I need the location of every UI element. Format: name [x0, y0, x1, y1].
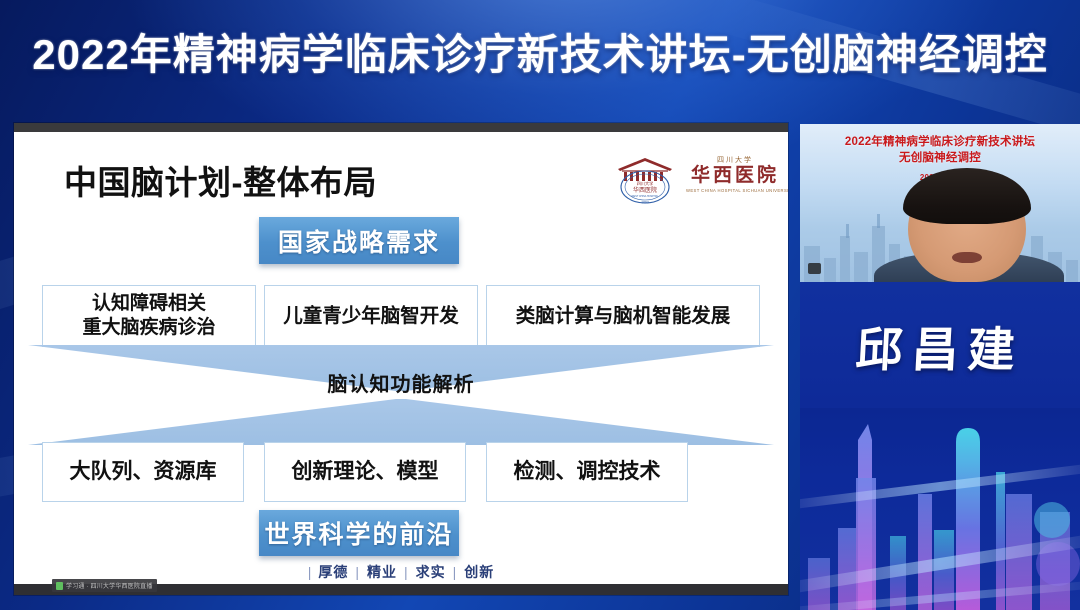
motto-word-2: 精业	[367, 564, 397, 580]
panel-skyline-decoration	[800, 408, 1080, 610]
scu-hospital-name: 华西医院	[686, 165, 784, 187]
scu-wordmark: 四川大学 华西医院 WEST CHINA HOSPITAL SICHUAN UN…	[686, 156, 784, 202]
motto-separator: |	[355, 564, 360, 580]
header-banner: 2022年精神病学临床诊疗新技术讲坛-无创脑神经调控	[0, 0, 1080, 118]
diagram-box-row1-2: 儿童青少年脑智开发	[264, 285, 478, 347]
diagram-box-row2-2: 创新理论、模型	[264, 442, 466, 502]
diagram-box-row1-1: 认知障碍相关 重大脑疾病诊治	[42, 285, 256, 347]
video-title-line2: 无创脑神经调控	[800, 150, 1080, 166]
skyline-graphic-icon	[800, 408, 1080, 610]
slide-title: 中国脑计划-整体布局	[64, 156, 377, 204]
svg-text:华西医院: 华西医院	[633, 186, 657, 194]
camera-indicator-icon	[808, 263, 821, 274]
hourglass-shape-icon	[28, 345, 774, 445]
diagram-box-row2-3: 检测、调控技术	[486, 442, 688, 502]
video-overlay-title: 2022年精神病学临床诊疗新技术讲坛 无创脑神经调控	[800, 134, 1080, 166]
hourglass-connector	[28, 345, 774, 445]
diagram-box-row2-1: 大队列、资源库	[42, 442, 244, 502]
presenter-video-tile[interactable]: 2022年精神病学临床诊疗新技术讲坛 无创脑神经调控 2022年6月	[800, 124, 1080, 282]
diagram-box-row1-3: 类脑计算与脑机智能发展	[486, 285, 760, 347]
watermark-app-icon	[56, 582, 63, 590]
stream-watermark: 学习通 · 四川大学华西医院直播	[52, 579, 157, 592]
watermark-label: 学习通 · 四川大学华西医院直播	[66, 581, 153, 590]
video-title-line1: 2022年精神病学临床诊疗新技术讲坛	[800, 134, 1080, 150]
presenter-panel: 2022年精神病学临床诊疗新技术讲坛 无创脑神经调控 2022年6月 邱昌建	[800, 124, 1080, 610]
logo-group: 四川大学 华西医院 WEST CHINA HOSPITAL 1892 四川大学 …	[614, 152, 784, 206]
scu-university-name: 四川大学	[686, 156, 784, 165]
motto-word-1: 厚德	[318, 564, 348, 580]
motto-word-4: 创新	[464, 564, 494, 580]
svg-text:四川大学: 四川大学	[637, 180, 654, 187]
diagram-box-label: 认知障碍相关 重大脑疾病诊治	[82, 292, 215, 341]
scu-english-name: WEST CHINA HOSPITAL SICHUAN UNIVERSITY	[686, 187, 784, 194]
diagram-box-label: 类脑计算与脑机智能发展	[516, 304, 731, 329]
svg-text:1892: 1892	[641, 201, 649, 205]
banner-title: 2022年精神病学临床诊疗新技术讲坛-无创脑神经调控	[0, 22, 1080, 88]
diagram-top-chip: 国家战略需求	[259, 217, 459, 264]
diagram-bottom-chip: 世界科学的前沿	[259, 510, 459, 556]
motto-word-3: 求实	[416, 564, 446, 580]
west-china-hospital-crest-icon: 四川大学 华西医院 WEST CHINA HOSPITAL 1892	[614, 152, 676, 206]
motto-separator: |	[404, 564, 409, 580]
webinar-screen: 2022年精神病学临床诊疗新技术讲坛-无创脑神经调控 中国脑计划-整体布局	[0, 0, 1080, 610]
motto-separator: |	[308, 564, 313, 580]
slide-area: 中国脑计划-整体布局	[14, 123, 788, 595]
motto-separator: |	[453, 564, 458, 580]
slide-top-bar	[14, 123, 788, 132]
presenter-mouth	[952, 252, 982, 263]
svg-text:WEST CHINA HOSPITAL: WEST CHINA HOSPITAL	[631, 195, 659, 198]
presentation-slide: 中国脑计划-整体布局	[14, 132, 788, 584]
presenter-name-block: 邱昌建	[800, 282, 1080, 408]
presenter-name: 邱昌建	[854, 311, 1026, 380]
diagram-box-label: 儿童青少年脑智开发	[283, 304, 459, 329]
